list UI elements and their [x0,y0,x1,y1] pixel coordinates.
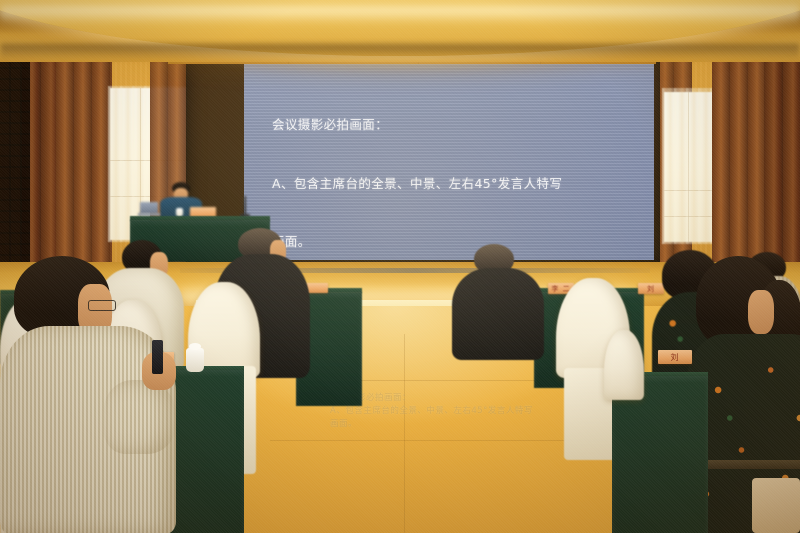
handbag [752,478,800,533]
arm-right [104,380,176,454]
ceiling-shadow [0,44,800,60]
slide-line: 会议摄影必拍画面： [272,115,646,135]
smartphone [152,340,163,374]
eyeglasses-icon [88,300,116,311]
slide-line: A、包含主席台的全景、中景、左右45°发言人特写 [272,174,646,194]
man-striped-shirt-glasses-phone [0,256,220,533]
ceiling-led-glow [0,6,800,24]
presenter-microphone [244,196,246,216]
slide-text-block: 会议摄影必拍画面： A、包含主席台的全景、中景、左右45°发言人特写 画面。 B… [272,76,646,260]
man-dark-shirt-grey-hair [452,244,544,354]
torso [452,268,544,360]
head-skin [748,290,774,334]
nameplate-front-right: 刘 [658,350,692,364]
belt [696,460,800,469]
floor-seam [404,334,405,533]
chair-cover [604,330,644,400]
conference-room-photo: 会议摄影必拍画面： A、包含主席台的全景、中景、左右45°发言人特写 画面。 B… [0,0,800,533]
